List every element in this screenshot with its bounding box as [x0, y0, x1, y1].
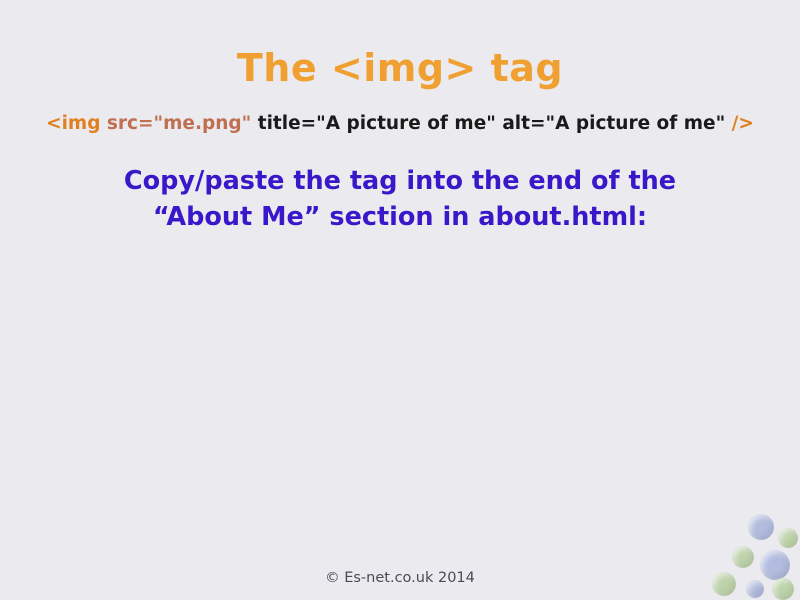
code-snippet: <img src="me.png" title="A picture of me…	[0, 113, 800, 134]
bubble-1	[748, 514, 774, 540]
slide-canvas: The <img> tag <img src="me.png" title="A…	[0, 0, 800, 600]
bubble-3	[732, 546, 754, 568]
code-src-attribute: src="me.png"	[100, 113, 251, 134]
code-other-attributes: title="A picture of me" alt="A picture o…	[251, 113, 725, 134]
instruction-text: Copy/paste the tag into the end of the “…	[0, 163, 800, 235]
code-tag-close: />	[725, 113, 754, 134]
footer-copyright: © Es-net.co.uk 2014	[0, 570, 800, 586]
instruction-line-1: Copy/paste the tag into the end of the	[0, 163, 800, 199]
code-tag-open: <img	[46, 113, 100, 134]
instruction-line-2: “About Me” section in about.html:	[0, 199, 800, 235]
bubble-2	[778, 528, 798, 548]
page-title: The <img> tag	[0, 46, 800, 90]
